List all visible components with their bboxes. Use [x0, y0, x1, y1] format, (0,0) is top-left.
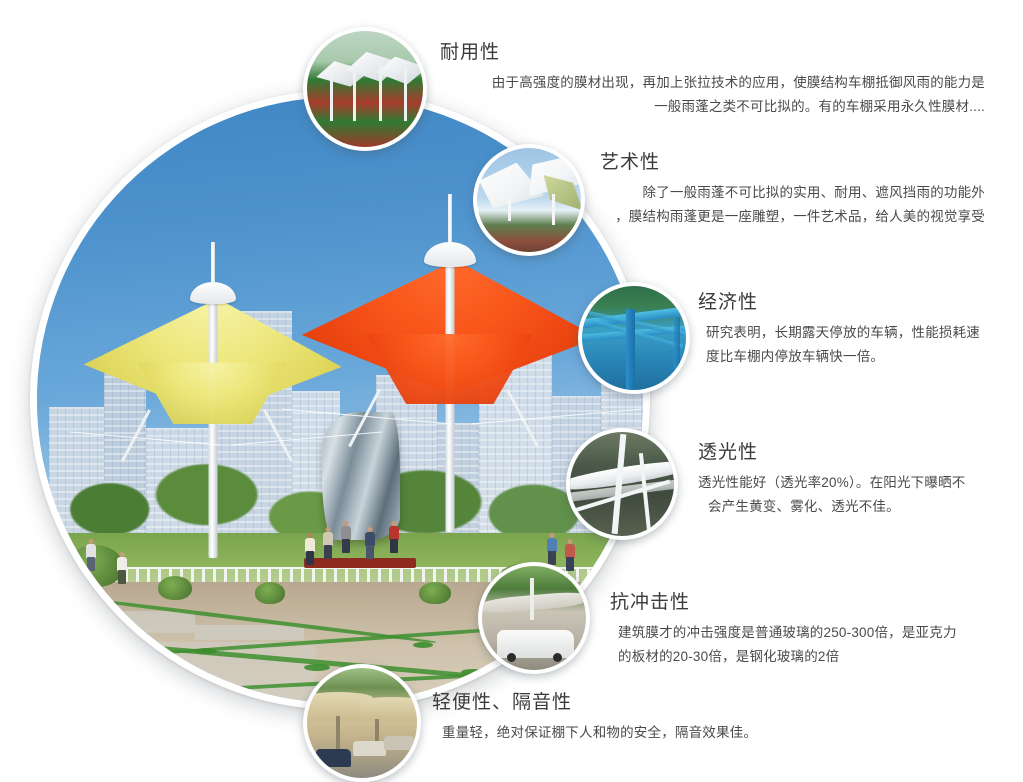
feature-body-line: 除了一般雨蓬不可比拟的实用、耐用、遮风挡雨的功能外: [600, 181, 985, 205]
pedestrian: [304, 533, 316, 567]
yellow-membrane-canopy: [98, 242, 328, 572]
pedestrian: [546, 533, 558, 565]
thumb-tan-carport-row: [307, 668, 417, 778]
feature-title-impact-resistance: 抗冲击性: [610, 592, 1000, 615]
thumb-suv-under-carport: [482, 566, 586, 670]
feature-text-durability: 耐用性 由于高强度的膜材出现，再加上张拉技术的应用，使膜结构车棚抵御风雨的能力是…: [440, 42, 985, 119]
poster-stage: 耐用性 由于高强度的膜材出现，再加上张拉技术的应用，使膜结构车棚抵御风雨的能力是…: [0, 0, 1023, 782]
feature-body-line: 度比车棚内停放车辆快一倍。: [698, 345, 998, 369]
feature-title-lightweight-soundproof: 轻便性、隔音性: [432, 692, 852, 715]
feature-body-line: 会产生黄变、雾化、透光不佳。: [698, 495, 998, 519]
feature-body-line: 研究表明，长期露天停放的车辆，性能损耗速: [698, 321, 998, 345]
pedestrian: [85, 539, 97, 573]
feature-title-durability: 耐用性: [440, 42, 985, 65]
feature-body-line: 重量轻，绝对保证棚下人和物的安全，隔音效果佳。: [432, 721, 852, 745]
feature-body-line: ，膜结构雨蓬更是一座雕塑，一件艺术品，给人美的视觉享受: [600, 205, 985, 229]
pedestrian: [564, 539, 576, 571]
feature-thumb-impact-resistance[interactable]: [478, 562, 590, 674]
shrub: [255, 582, 285, 604]
feature-body-line: 透光性能好（透光率20%）。在阳光下曝晒不: [698, 471, 998, 495]
pedestrian: [322, 527, 334, 561]
feature-body-line: 建筑膜才的冲击强度是普通玻璃的250-300倍，是亚克力: [610, 621, 1000, 645]
feature-title-translucency: 透光性: [698, 442, 998, 465]
thumb-blue-steel-carport: [582, 286, 686, 390]
feature-thumb-artistry[interactable]: [473, 144, 585, 256]
thumb-white-membrane-closeup: [570, 432, 674, 536]
pedestrian: [388, 521, 400, 557]
feature-title-artistry: 艺术性: [600, 152, 985, 175]
thumb-tennis-court-canopy: [307, 31, 423, 147]
shrub: [419, 582, 451, 604]
feature-thumb-economy[interactable]: [578, 282, 690, 394]
feature-body-line: 一般雨蓬之类不可比拟的。有的车棚采用永久性膜材....: [440, 95, 985, 119]
feature-text-artistry: 艺术性 除了一般雨蓬不可比拟的实用、耐用、遮风挡雨的功能外 ，膜结构雨蓬更是一座…: [600, 152, 985, 229]
thumb-white-sail-shade: [477, 148, 581, 252]
feature-body-line: 由于高强度的膜材出现，再加上张拉技术的应用，使膜结构车棚抵御风雨的能力是: [440, 71, 985, 95]
feature-text-impact-resistance: 抗冲击性 建筑膜才的冲击强度是普通玻璃的250-300倍，是亚克力 的板材的20…: [610, 592, 1000, 669]
shrub: [158, 576, 192, 600]
feature-thumb-lightweight-soundproof[interactable]: [303, 664, 421, 782]
feature-body-line: 的板材的20-30倍，是钢化玻璃的2倍: [610, 645, 1000, 669]
feature-text-lightweight-soundproof: 轻便性、隔音性 重量轻，绝对保证棚下人和物的安全，隔音效果佳。: [432, 692, 852, 745]
pedestrian: [364, 527, 376, 563]
feature-text-economy: 经济性 研究表明，长期露天停放的车辆，性能损耗速 度比车棚内停放车辆快一倍。: [698, 292, 998, 369]
pedestrian: [340, 521, 352, 555]
feature-thumb-translucency[interactable]: [566, 428, 678, 540]
feature-title-economy: 经济性: [698, 292, 998, 315]
feature-text-translucency: 透光性 透光性能好（透光率20%）。在阳光下曝晒不 会产生黄变、雾化、透光不佳。: [698, 442, 998, 519]
pedestrian: [116, 552, 128, 586]
feature-thumb-durability[interactable]: [303, 27, 427, 151]
